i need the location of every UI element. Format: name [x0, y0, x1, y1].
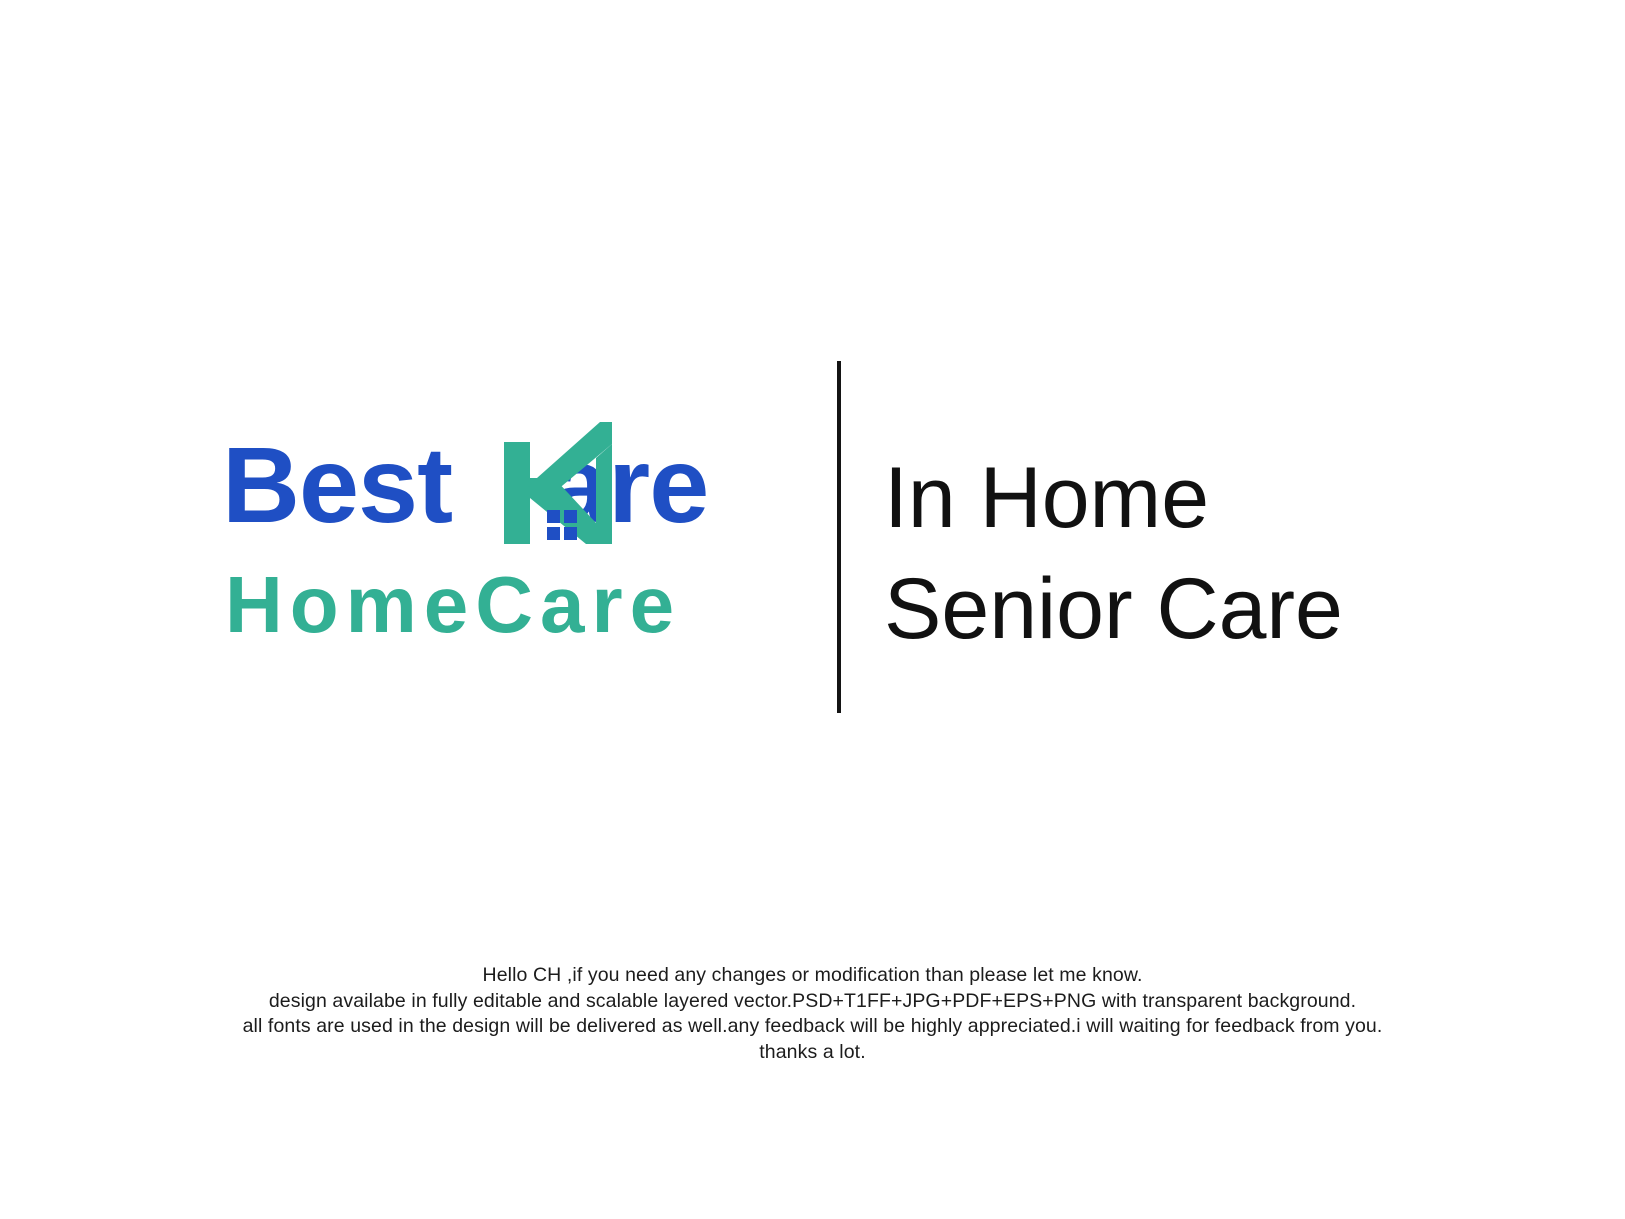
wordmark-segment-are: are [549, 424, 708, 545]
wordmark-k-slot [452, 521, 549, 522]
logo-wordmark-group: Bestare HomeCare [222, 425, 822, 665]
wordmark-segment-best: Best [222, 424, 452, 545]
footer-note-line-4: thanks a lot. [0, 1040, 1625, 1066]
footer-note-line-2: design availabe in fully editable and sc… [0, 989, 1625, 1015]
wordmark-bestkare: Bestare [222, 425, 708, 545]
tagline-line-2: Senior Care [884, 554, 1544, 665]
footer-note-line-1: Hello CH ,if you need any changes or mod… [0, 963, 1625, 989]
vertical-divider [837, 361, 841, 713]
wordmark-homecare: HomeCare [225, 560, 681, 650]
footer-note: Hello CH ,if you need any changes or mod… [0, 963, 1625, 1065]
tagline-line-1: In Home [884, 443, 1544, 554]
logo-presentation-canvas: Bestare HomeCare In Home Senior Care [0, 0, 1625, 1219]
tagline: In Home Senior Care [884, 443, 1544, 665]
footer-note-line-3: all fonts are used in the design will be… [0, 1014, 1625, 1040]
